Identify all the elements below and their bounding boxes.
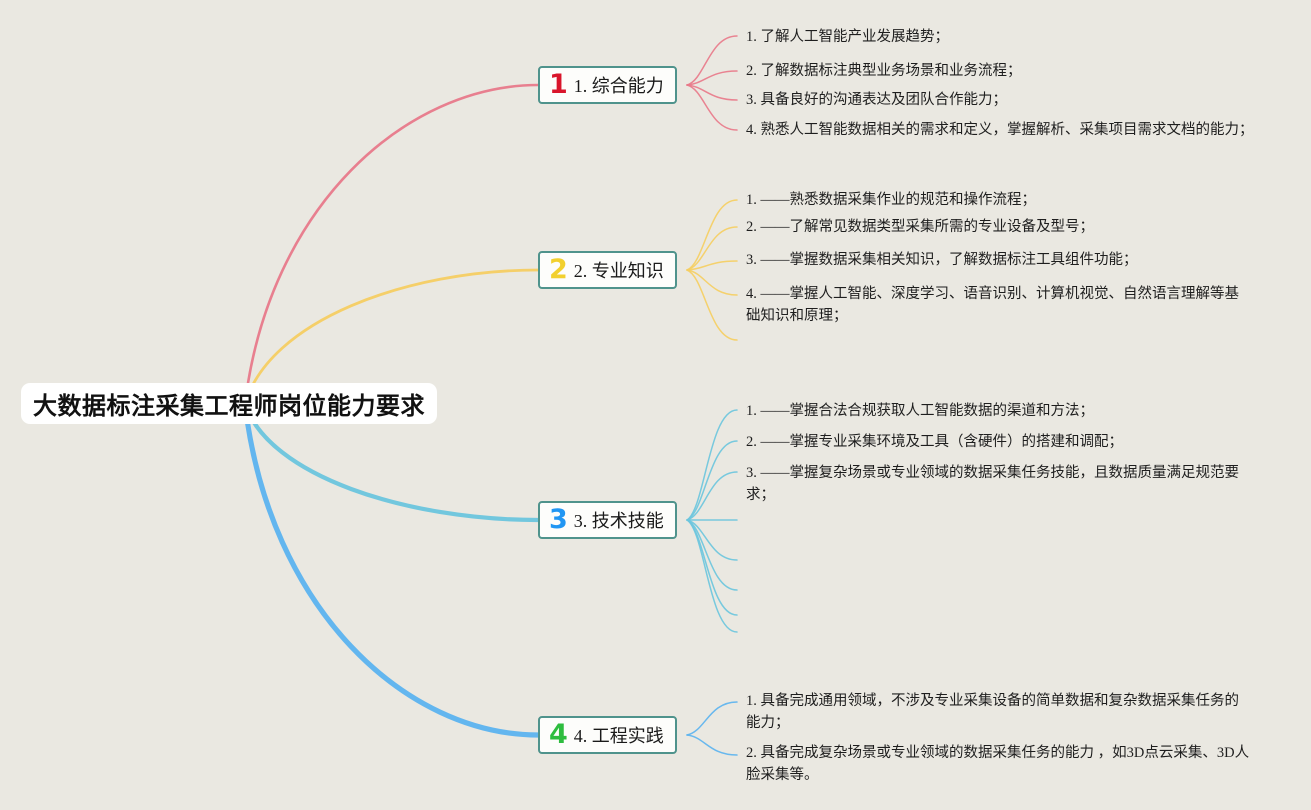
leaf-item[interactable]: 1. ——熟悉数据采集作业的规范和操作流程； (746, 189, 1256, 211)
leaf-item[interactable]: 3. 具备良好的沟通表达及团队合作能力； (746, 89, 1256, 111)
leaf-item[interactable]: 1. 了解人工智能产业发展趋势； (746, 26, 1256, 48)
leaf-item[interactable]: 1. ——掌握合法合规获取人工智能数据的渠道和方法； (746, 400, 1256, 422)
branch-node-1[interactable]: 1 1. 综合能力 (538, 66, 677, 104)
branch-numeral-3: 3 (549, 506, 568, 533)
branch-node-3[interactable]: 3 3. 技术技能 (538, 501, 677, 539)
root-node[interactable]: 大数据标注采集工程师岗位能力要求 (21, 383, 437, 424)
leaf-item[interactable]: 2. 具备完成复杂场景或专业领域的数据采集任务的能力 ，如3D点云采集、3D人脸… (746, 742, 1256, 786)
leaf-item[interactable]: 2. ——掌握专业采集环境及工具（含硬件）的搭建和调配； (746, 431, 1256, 453)
branch-numeral-2: 2 (549, 256, 568, 283)
branch-node-2[interactable]: 2 2. 专业知识 (538, 251, 677, 289)
branch-label-2: 2. 专业知识 (574, 257, 664, 283)
leaf-item[interactable]: 1. 具备完成通用领域，不涉及专业采集设备的简单数据和复杂数据采集任务的能力； (746, 690, 1251, 734)
leaf-item[interactable]: 2. ——了解常见数据类型采集所需的专业设备及型号； (746, 216, 1256, 238)
leaf-item[interactable]: 4. ——掌握人工智能、深度学习、语音识别、计算机视觉、自然语言理解等基础知识和… (746, 283, 1246, 327)
leaf-item[interactable]: 3. ——掌握复杂场景或专业领域的数据采集任务技能，且数据质量满足规范要求； (746, 462, 1246, 506)
branch-label-4: 4. 工程实践 (574, 722, 664, 748)
leaf-item[interactable]: 3. ——掌握数据采集相关知识，了解数据标注工具组件功能； (746, 249, 1256, 271)
branch-node-4[interactable]: 4 4. 工程实践 (538, 716, 677, 754)
leaf-item[interactable]: 4. 熟悉人工智能数据相关的需求和定义，掌握解析、采集项目需求文档的能力； (746, 119, 1266, 141)
branch-numeral-1: 1 (549, 71, 568, 98)
branch-numeral-4: 4 (549, 721, 568, 748)
leaf-item[interactable]: 2. 了解数据标注典型业务场景和业务流程； (746, 60, 1256, 82)
root-title: 大数据标注采集工程师岗位能力要求 (33, 386, 425, 421)
mindmap-canvas: 大数据标注采集工程师岗位能力要求 1 1. 综合能力 1. 了解人工智能产业发展… (0, 0, 1311, 810)
branch-label-3: 3. 技术技能 (574, 507, 664, 533)
branch-label-1: 1. 综合能力 (574, 72, 664, 98)
